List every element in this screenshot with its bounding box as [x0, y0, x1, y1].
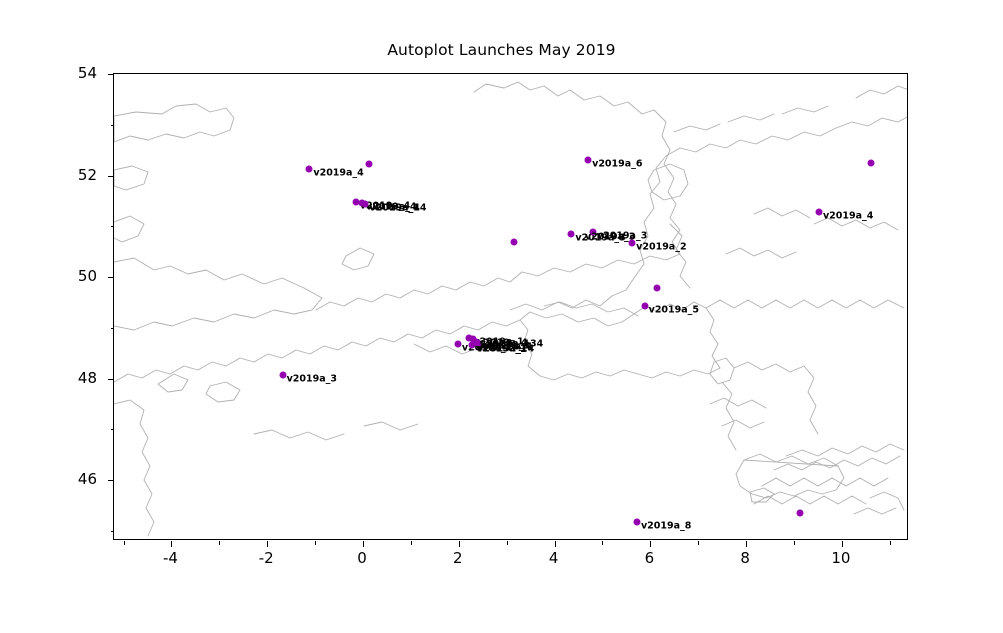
x-axis-tick-label: 8: [740, 549, 750, 567]
x-tick-minor: [219, 541, 220, 545]
x-axis-tick-label: 6: [645, 549, 655, 567]
data-point: [568, 230, 575, 237]
data-point: [585, 157, 592, 164]
y-tick-minor: [111, 429, 115, 430]
x-tick-minor: [890, 541, 891, 545]
scatter-layer: v2019a_4v2019a_4v2019a_4v2019a_1v2019a_6…: [114, 74, 907, 539]
data-point: [641, 303, 648, 310]
data-point: [510, 238, 517, 245]
plot-axes: v2019a_4v2019a_4v2019a_4v2019a_1v2019a_6…: [113, 73, 908, 540]
y-tick-minor: [111, 531, 115, 532]
overlapping-label-cluster: v2019a_14: [477, 343, 534, 354]
data-point: [365, 161, 372, 168]
y-tick-minor: [111, 328, 115, 329]
y-axis-tick-label: 52: [78, 166, 97, 184]
data-point: [454, 341, 461, 348]
y-tick-major: [108, 480, 114, 481]
x-tick-minor: [411, 541, 412, 545]
y-tick-major: [108, 176, 114, 177]
overlapping-label-cluster: v2019a_3: [585, 232, 635, 243]
data-point-label: v2019a_6: [592, 159, 642, 170]
x-tick-major: [363, 541, 364, 547]
data-point-label: v2019a_2: [636, 241, 686, 252]
data-point-label: v2019a_4: [313, 168, 363, 179]
data-point: [279, 371, 286, 378]
data-point: [815, 209, 822, 216]
x-tick-minor: [507, 541, 508, 545]
data-point-label: v2019a_5: [649, 305, 699, 316]
x-tick-major: [171, 541, 172, 547]
y-tick-minor: [111, 226, 115, 227]
x-tick-minor: [124, 541, 125, 545]
x-tick-major: [555, 541, 556, 547]
page-title: Autoplot Launches May 2019: [0, 41, 1003, 59]
y-axis-tick-label: 48: [78, 369, 97, 387]
y-tick-major: [108, 74, 114, 75]
x-axis-tick-label: 2: [453, 549, 463, 567]
x-axis-tick-label: 0: [357, 549, 367, 567]
data-point-label: v2019a_3: [287, 373, 337, 384]
x-axis-tick-label: 10: [831, 549, 850, 567]
data-point-label: v2019a_4: [823, 211, 873, 222]
x-axis-tick-label: -2: [259, 549, 274, 567]
data-point: [653, 285, 660, 292]
x-tick-major: [746, 541, 747, 547]
x-tick-minor: [698, 541, 699, 545]
x-axis-tick-label: 4: [549, 549, 559, 567]
data-point-label: v2019a_8: [641, 520, 691, 531]
x-tick-major: [267, 541, 268, 547]
x-tick-minor: [315, 541, 316, 545]
data-point: [306, 166, 313, 173]
y-axis-tick-label: 50: [78, 267, 97, 285]
y-tick-major: [108, 379, 114, 380]
data-point: [796, 510, 803, 517]
overlapping-label-cluster: v2019a_44: [369, 202, 426, 213]
x-axis-tick-label: -4: [163, 549, 178, 567]
y-axis-tick-label: 46: [78, 470, 97, 488]
x-tick-minor: [602, 541, 603, 545]
x-tick-major: [650, 541, 651, 547]
data-point: [867, 159, 874, 166]
figure-canvas: Autoplot Launches May 2019: [0, 0, 1003, 633]
x-tick-major: [459, 541, 460, 547]
x-tick-major: [842, 541, 843, 547]
x-tick-minor: [794, 541, 795, 545]
y-tick-major: [108, 277, 114, 278]
y-tick-minor: [111, 125, 115, 126]
y-axis-tick-label: 54: [78, 64, 97, 82]
data-point: [633, 518, 640, 525]
data-point: [362, 200, 369, 207]
